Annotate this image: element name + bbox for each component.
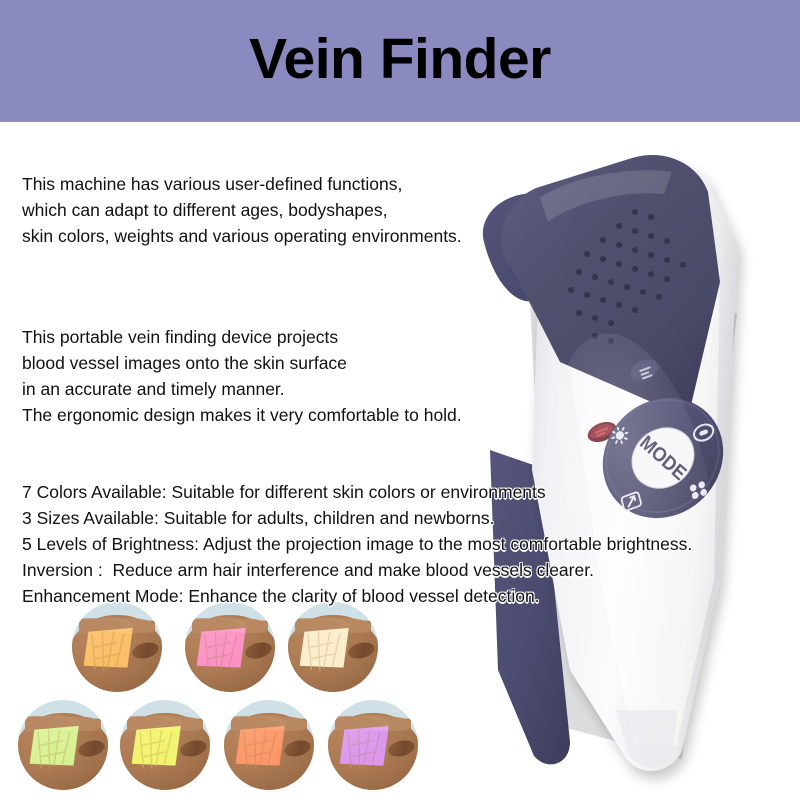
device-paragraph: This portable vein finding device projec… — [22, 324, 542, 428]
intro-line-2: which can adapt to different ages, bodys… — [22, 197, 542, 223]
intro-line-1: This machine has various user-defined fu… — [22, 171, 542, 197]
swatch-red — [224, 700, 314, 790]
feature-line-sizes: 3 Sizes Available: Suitable for adults, … — [22, 505, 582, 531]
feature-line-brightness: 5 Levels of Brightness: Adjust the proje… — [22, 531, 582, 557]
header-banner: Vein Finder — [0, 0, 800, 122]
page-title: Vein Finder — [249, 31, 551, 88]
vein-projection-red — [235, 726, 286, 770]
swatch-white — [288, 602, 378, 692]
swatch-purple — [328, 700, 418, 790]
feature-line-colors: 7 Colors Available: Suitable for differe… — [22, 479, 582, 505]
intro-paragraph: This machine has various user-defined fu… — [22, 171, 542, 249]
swatch-orange — [72, 602, 162, 692]
device-line-1: This portable vein finding device projec… — [22, 324, 542, 350]
vein-projection-orange — [83, 628, 134, 672]
swatch-yellow-green — [120, 700, 210, 790]
device-line-4: The ergonomic design makes it very comfo… — [22, 402, 542, 428]
swatch-green — [18, 700, 108, 790]
vein-projection-yellow-green — [131, 726, 182, 770]
vein-projection-magenta — [196, 628, 247, 672]
device-line-2: blood vessel images onto the skin surfac… — [22, 350, 542, 376]
intro-line-3: skin colors, weights and various operati… — [22, 223, 542, 249]
vein-projection-white — [299, 628, 350, 672]
feature-list: 7 Colors Available: Suitable for differe… — [22, 479, 582, 609]
swatch-magenta — [185, 602, 275, 692]
color-swatch-gallery — [0, 596, 470, 800]
device-line-3: in an accurate and timely manner. — [22, 376, 542, 402]
vein-projection-purple — [339, 726, 390, 770]
vein-projection-green — [29, 726, 80, 770]
feature-line-inversion: Inversion : Reduce arm hair interference… — [22, 557, 582, 583]
feature-line-enhancement: Enhancement Mode: Enhance the clarity of… — [22, 583, 582, 609]
